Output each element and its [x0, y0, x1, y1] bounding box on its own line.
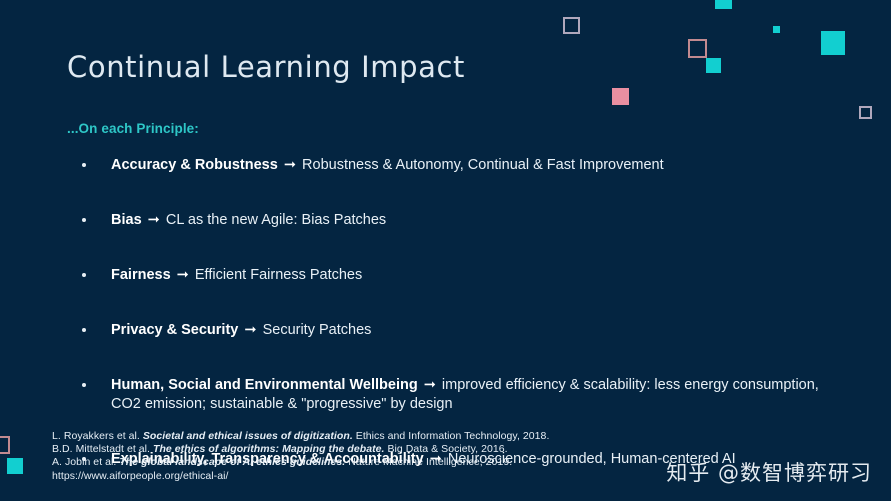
cyan-square-tiny — [773, 26, 780, 33]
bullet-lead-text: Human, Social and Environmental Wellbein… — [111, 377, 418, 393]
bullet-lead-text: Fairness — [111, 267, 171, 283]
bullet-item: Human, Social and Environmental Wellbein… — [78, 376, 838, 414]
bullet-detail-text: Robustness & Autonomy, Continual & Fast … — [302, 157, 664, 173]
arrow-icon: ➞ — [418, 377, 442, 393]
reference-line: A. Jobin et al. The global landscape of … — [52, 456, 549, 469]
reference-title: The ethics of algorithms: Mapping the de… — [153, 443, 385, 455]
bullet-dot-icon — [82, 163, 86, 167]
references-block: L. Royakkers et al. Societal and ethical… — [52, 430, 549, 483]
reference-line: L. Royakkers et al. Societal and ethical… — [52, 430, 549, 443]
cyan-square-small-mid — [706, 58, 721, 73]
outline-square-mauve-top — [563, 17, 580, 34]
principles-bullet-list: Accuracy & Robustness ➞ Robustness & Aut… — [78, 156, 838, 469]
reference-url[interactable]: https://www.aiforpeople.org/ethical-ai/ — [52, 470, 549, 483]
cyan-square-large-right — [821, 31, 845, 55]
cyan-square-bottom-left — [7, 458, 23, 474]
bullet-lead-text: Bias — [111, 212, 142, 228]
bullet-dot-icon — [82, 383, 86, 387]
reference-venue: Ethics and Information Technology, 2018. — [353, 430, 550, 442]
reference-authors: A. Jobin et al. — [52, 456, 119, 468]
reference-venue: Nature Machine Intelligence, 2019. — [345, 456, 512, 468]
bullet-lead-text: Privacy & Security — [111, 322, 238, 338]
reference-line: B.D. Mittelstadt et al. The ethics of al… — [52, 443, 549, 456]
bullet-item: Accuracy & Robustness ➞ Robustness & Aut… — [78, 156, 838, 175]
outline-square-pink-upper — [688, 39, 707, 58]
bullet-item: Bias ➞ CL as the new Agile: Bias Patches — [78, 211, 838, 230]
bullet-item: Fairness ➞ Efficient Fairness Patches — [78, 266, 838, 285]
bullet-detail-text: Efficient Fairness Patches — [195, 267, 362, 283]
reference-venue: Big Data & Society, 2016. — [385, 443, 508, 455]
pink-square-filled — [612, 88, 629, 105]
arrow-icon: ➞ — [171, 267, 195, 283]
bullet-dot-icon — [82, 218, 86, 222]
bullet-detail-text: CL as the new Agile: Bias Patches — [166, 212, 386, 228]
reference-authors: B.D. Mittelstadt et al. — [52, 443, 153, 455]
outline-square-pink-left-edge — [0, 436, 10, 454]
reference-title: Societal and ethical issues of digitizat… — [143, 430, 353, 442]
bullet-dot-icon — [82, 273, 86, 277]
watermark-label: 知乎 @数智博弈研习 — [666, 457, 872, 487]
bullet-item: Privacy & Security ➞ Security Patches — [78, 321, 838, 340]
arrow-icon: ➞ — [142, 212, 166, 228]
arrow-icon: ➞ — [278, 157, 302, 173]
arrow-icon: ➞ — [238, 322, 262, 338]
bullet-dot-icon — [82, 328, 86, 332]
cyan-square-top-edge — [715, 0, 732, 9]
outline-square-mauve-right — [859, 106, 872, 119]
reference-authors: L. Royakkers et al. — [52, 430, 143, 442]
slide-canvas: Continual Learning Impact ...On each Pri… — [0, 0, 891, 501]
reference-title: The global landscape of AI ethics guidel… — [119, 456, 345, 468]
page-title: Continual Learning Impact — [67, 50, 465, 84]
section-subtitle: ...On each Principle: — [67, 121, 199, 136]
bullet-detail-text: Security Patches — [263, 322, 372, 338]
bullet-lead-text: Accuracy & Robustness — [111, 157, 278, 173]
